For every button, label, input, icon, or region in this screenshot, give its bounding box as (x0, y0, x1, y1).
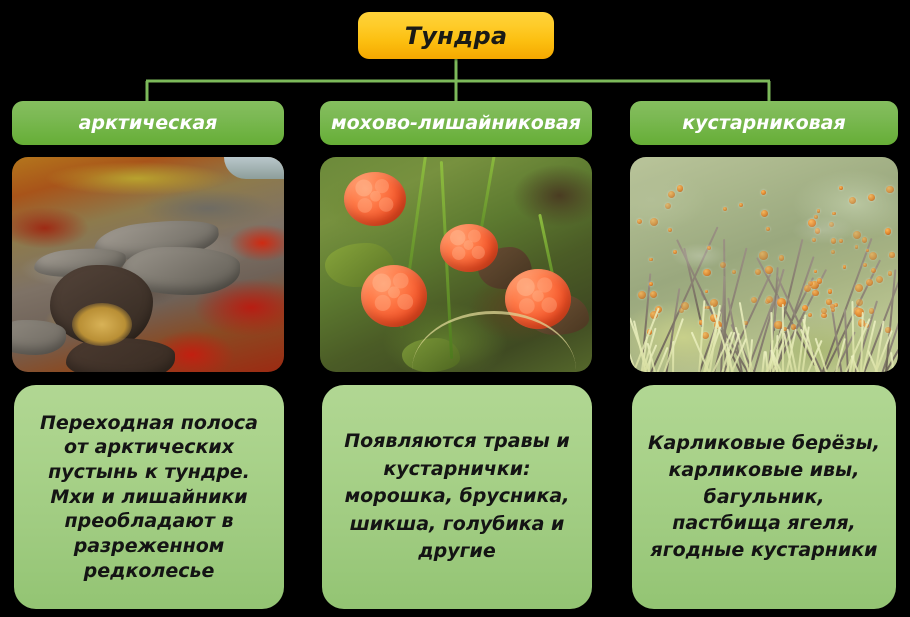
sky-patch (224, 157, 284, 179)
description-card-mohovo-lishajnikovaya: Появляются травы и кустарнички: морошка,… (322, 385, 592, 609)
cloudberry-photo-scene (320, 157, 592, 372)
description-card-arkticheskaya: Переходная полоса от арктических пустынь… (14, 385, 284, 609)
arctic-tundra-photo-scene (12, 157, 284, 372)
category-header-label: кустарниковая (682, 112, 845, 134)
category-header-kustarnikovaya[interactable]: кустарниковая (630, 101, 898, 145)
category-header-mohovo-lishajnikovaya[interactable]: мохово-лишайниковая (320, 101, 592, 145)
category-header-label: арктическая (79, 112, 218, 134)
cloudberry-fruit (440, 224, 498, 272)
category-header-arkticheskaya[interactable]: арктическая (12, 101, 284, 145)
rock-shape (12, 320, 66, 354)
cloudberry-photo (320, 157, 592, 372)
diagram-canvas: Тундра арктическая Переходная полоса от … (0, 0, 910, 617)
description-text: Карликовые берёзы, карликовые ивы, багул… (648, 430, 880, 565)
cloudberry-fruit (361, 265, 427, 327)
root-node-tundra[interactable]: Тундра (358, 12, 554, 59)
description-card-kustarnikovaya: Карликовые берёзы, карликовые ивы, багул… (632, 385, 896, 609)
category-header-label: мохово-лишайниковая (331, 112, 581, 134)
rock-shape (66, 338, 175, 372)
dwarf-shrub-photo-scene (630, 157, 898, 372)
root-node-label: Тундра (405, 22, 508, 50)
dwarf-shrub-photo (630, 157, 898, 372)
frost-glint (630, 157, 898, 372)
cloudberry-fruit (344, 172, 406, 226)
arctic-tundra-photo (12, 157, 284, 372)
description-text: Появляются травы и кустарнички: морошка,… (344, 428, 569, 566)
dry-grass-tuft (72, 303, 132, 346)
description-text: Переходная полоса от арктических пустынь… (40, 411, 258, 584)
